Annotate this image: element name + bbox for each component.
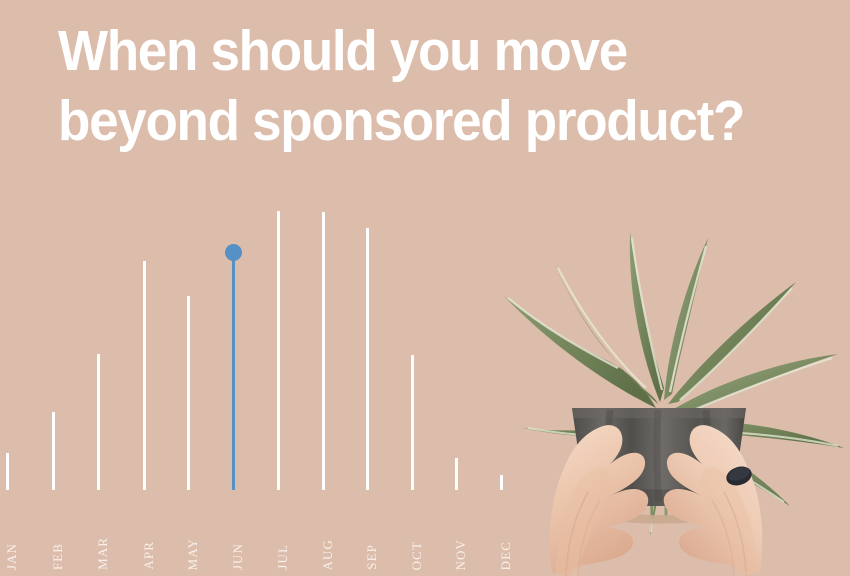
month-label-aug: AUG	[321, 539, 334, 570]
bar-jul[interactable]	[277, 211, 280, 490]
monthly-bar-chart: JANFEBMARAPRMAYJUNJULAUGSEPOCTNOVDEC	[0, 0, 850, 576]
month-label-nov: NOV	[454, 539, 467, 570]
month-label-sep: SEP	[365, 544, 378, 570]
month-label-jan: JAN	[5, 543, 18, 570]
bar-dec[interactable]	[500, 475, 503, 490]
month-label-feb: FEB	[51, 543, 64, 570]
highlight-dot-marker[interactable]	[225, 244, 242, 261]
bar-apr[interactable]	[143, 261, 146, 490]
bar-mar[interactable]	[97, 354, 100, 490]
bar-sep[interactable]	[366, 228, 369, 490]
poster-canvas: JANFEBMARAPRMAYJUNJULAUGSEPOCTNOVDEC	[0, 0, 850, 576]
bar-feb[interactable]	[52, 412, 55, 490]
bar-oct[interactable]	[411, 355, 414, 490]
month-label-oct: OCT	[410, 541, 423, 570]
bar-nov[interactable]	[455, 458, 458, 490]
bar-aug[interactable]	[322, 212, 325, 490]
bar-jan[interactable]	[6, 453, 9, 490]
month-label-apr: APR	[142, 541, 155, 570]
month-label-jun: JUN	[231, 543, 244, 570]
month-label-mar: MAR	[96, 537, 109, 570]
bar-jun[interactable]	[232, 252, 235, 490]
month-label-jul: JUL	[276, 544, 289, 570]
month-label-dec: DEC	[499, 541, 512, 570]
bar-may[interactable]	[187, 296, 190, 490]
month-label-may: MAY	[186, 538, 199, 570]
